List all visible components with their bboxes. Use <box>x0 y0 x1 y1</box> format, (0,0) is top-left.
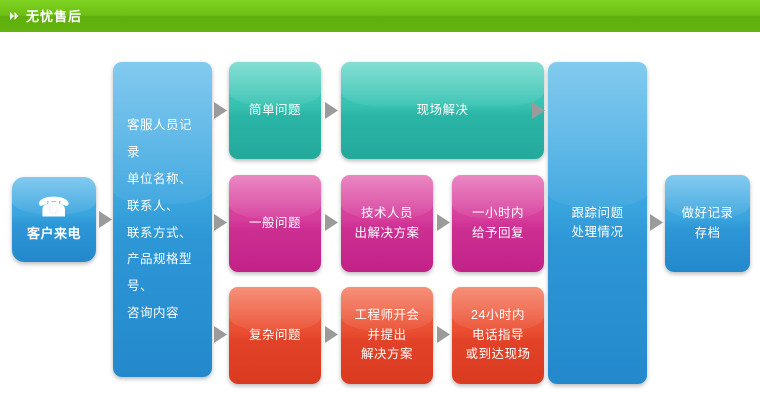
flow-node-onehour[interactable]: 一小时内 给予回复 <box>452 175 544 272</box>
flow-node-archive-label: 做好记录 存档 <box>673 204 742 243</box>
flow-arrow-call-to-record <box>99 211 112 228</box>
flow-arrow-record-to-complex <box>214 326 227 343</box>
flow-node-call-label: 客户来电 <box>20 224 88 244</box>
flow-node-hours24-label: 24小时内 电话指导 或到达现场 <box>460 306 536 364</box>
flow-node-onsite-label: 现场解决 <box>349 101 536 120</box>
double-chevron-right-icon <box>9 10 21 22</box>
flow-arrow-record-to-normal <box>214 214 227 231</box>
flow-node-complex[interactable]: 复杂问题 <box>229 287 321 384</box>
flow-node-tech[interactable]: 技术人员 出解决方案 <box>341 175 433 272</box>
page-header: 无忧售后 <box>0 0 760 32</box>
flow-node-simple[interactable]: 简单问题 <box>229 62 321 159</box>
flow-node-engineer-label: 工程师开会 并提出 解决方案 <box>349 306 425 364</box>
flow-node-normal-label: 一般问题 <box>237 214 313 233</box>
flow-arrow-tech-to-onehour <box>437 214 450 231</box>
flow-node-record[interactable]: 客服人员记录 单位名称、 联系人、 联系方式、 产品规格型号、 咨询内容 <box>113 62 212 377</box>
flow-node-call[interactable]: ☎ 客户来电 <box>12 177 96 262</box>
page-title: 无忧售后 <box>26 10 82 23</box>
flow-node-complex-label: 复杂问题 <box>237 326 313 345</box>
flow-node-onehour-label: 一小时内 给予回复 <box>460 204 536 243</box>
flow-node-track[interactable]: 跟踪问题 处理情况 <box>548 62 647 384</box>
flow-arrow-onsite-to-track <box>532 102 545 119</box>
flow-arrow-record-to-simple <box>214 102 227 119</box>
flow-node-tech-label: 技术人员 出解决方案 <box>349 204 425 243</box>
flow-node-hours24[interactable]: 24小时内 电话指导 或到达现场 <box>452 287 544 384</box>
flow-node-normal[interactable]: 一般问题 <box>229 175 321 272</box>
flow-node-archive[interactable]: 做好记录 存档 <box>665 175 750 272</box>
telephone-icon: ☎ <box>38 194 71 220</box>
flow-node-engineer[interactable]: 工程师开会 并提出 解决方案 <box>341 287 433 384</box>
flow-arrow-normal-to-tech <box>325 214 338 231</box>
flow-arrow-engineer-to-hours24 <box>437 326 450 343</box>
flow-arrow-simple-to-onsite <box>325 102 338 119</box>
flow-node-record-label: 客服人员记录 单位名称、 联系人、 联系方式、 产品规格型号、 咨询内容 <box>121 112 204 327</box>
flowchart-canvas: ☎ 客户来电 客服人员记录 单位名称、 联系人、 联系方式、 产品规格型号、 咨… <box>0 32 760 407</box>
page-root: 无忧售后 ☎ 客户来电 客服人员记录 单位名称、 联系人、 联系方式、 产品规格… <box>0 0 760 407</box>
flow-node-simple-label: 简单问题 <box>237 101 313 120</box>
flow-arrow-complex-to-engineer <box>325 326 338 343</box>
flow-node-onsite[interactable]: 现场解决 <box>341 62 544 159</box>
flow-node-track-label: 跟踪问题 处理情况 <box>556 204 639 243</box>
flow-arrow-track-to-archive <box>650 214 663 231</box>
